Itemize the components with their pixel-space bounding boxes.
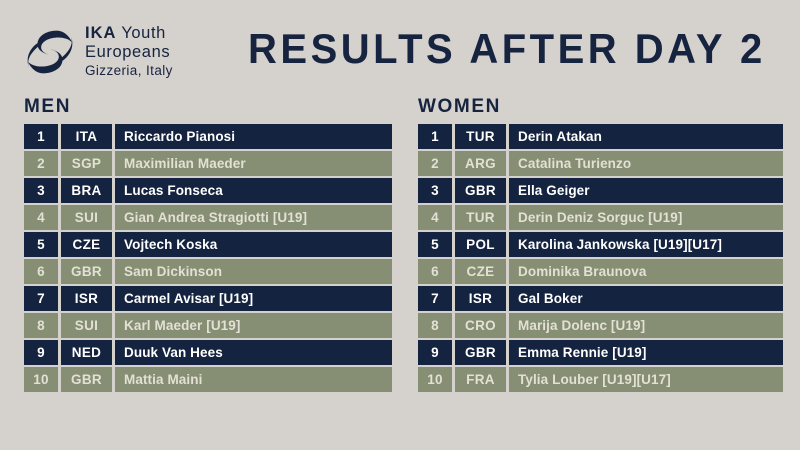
ika-s-logo-icon bbox=[24, 26, 76, 78]
nation-cell: BRA bbox=[61, 178, 112, 203]
rank-cell: 1 bbox=[418, 124, 452, 149]
nation-cell: GBR bbox=[455, 340, 506, 365]
nation-cell: ISR bbox=[455, 286, 506, 311]
athlete-name-cell: Duuk Van Hees bbox=[115, 340, 392, 365]
athlete-name-cell: Lucas Fonseca bbox=[115, 178, 392, 203]
athlete-name-cell: Gal Boker bbox=[509, 286, 783, 311]
athlete-name-cell: Tylia Louber [U19][U17] bbox=[509, 367, 783, 392]
rank-cell: 3 bbox=[24, 178, 58, 203]
rank-cell: 7 bbox=[418, 286, 452, 311]
athlete-name-cell: Emma Rennie [U19] bbox=[509, 340, 783, 365]
column-women: WOMEN 1TURDerin Atakan2ARGCatalina Turie… bbox=[418, 96, 783, 392]
nation-cell: CZE bbox=[455, 259, 506, 284]
table-row[interactable]: 10FRATylia Louber [U19][U17] bbox=[418, 367, 783, 392]
table-row[interactable]: 2SGPMaximilian Maeder bbox=[24, 151, 392, 176]
results-table-women: 1TURDerin Atakan2ARGCatalina Turienzo3GB… bbox=[418, 124, 783, 392]
table-row[interactable]: 4SUIGian Andrea Stragiotti [U19] bbox=[24, 205, 392, 230]
nation-cell: ITA bbox=[61, 124, 112, 149]
results-table-men: 1ITARiccardo Pianosi2SGPMaximilian Maede… bbox=[24, 124, 392, 392]
athlete-name-cell: Dominika Braunova bbox=[509, 259, 783, 284]
nation-cell: SGP bbox=[61, 151, 112, 176]
rank-cell: 9 bbox=[24, 340, 58, 365]
table-row[interactable]: 9GBREmma Rennie [U19] bbox=[418, 340, 783, 365]
athlete-name-cell: Maximilian Maeder bbox=[115, 151, 392, 176]
nation-cell: POL bbox=[455, 232, 506, 257]
athlete-name-cell: Derin Atakan bbox=[509, 124, 783, 149]
rank-cell: 5 bbox=[24, 232, 58, 257]
table-row[interactable]: 7ISRCarmel Avisar [U19] bbox=[24, 286, 392, 311]
table-row[interactable]: 6GBRSam Dickinson bbox=[24, 259, 392, 284]
athlete-name-cell: Marija Dolenc [U19] bbox=[509, 313, 783, 338]
results-graphic: IKA Youth Europeans Gizzeria, Italy RESU… bbox=[0, 0, 800, 450]
rank-cell: 2 bbox=[24, 151, 58, 176]
athlete-name-cell: Riccardo Pianosi bbox=[115, 124, 392, 149]
section-title-women: WOMEN bbox=[418, 96, 783, 124]
table-row[interactable]: 1ITARiccardo Pianosi bbox=[24, 124, 392, 149]
nation-cell: TUR bbox=[455, 124, 506, 149]
rank-cell: 2 bbox=[418, 151, 452, 176]
nation-cell: GBR bbox=[61, 259, 112, 284]
athlete-name-cell: Mattia Maini bbox=[115, 367, 392, 392]
rank-cell: 3 bbox=[418, 178, 452, 203]
athlete-name-cell: Ella Geiger bbox=[509, 178, 783, 203]
logo-line-3: Gizzeria, Italy bbox=[85, 62, 173, 80]
table-row[interactable]: 2ARGCatalina Turienzo bbox=[418, 151, 783, 176]
logo-line-2: Europeans bbox=[85, 43, 173, 62]
rank-cell: 5 bbox=[418, 232, 452, 257]
nation-cell: NED bbox=[61, 340, 112, 365]
athlete-name-cell: Karolina Jankowska [U19][U17] bbox=[509, 232, 783, 257]
table-row[interactable]: 7ISRGal Boker bbox=[418, 286, 783, 311]
nation-cell: ISR bbox=[61, 286, 112, 311]
rank-cell: 10 bbox=[418, 367, 452, 392]
rank-cell: 4 bbox=[418, 205, 452, 230]
logo-wordmark: IKA Youth Europeans Gizzeria, Italy bbox=[85, 24, 173, 79]
athlete-name-cell: Carmel Avisar [U19] bbox=[115, 286, 392, 311]
rank-cell: 10 bbox=[24, 367, 58, 392]
header: IKA Youth Europeans Gizzeria, Italy RESU… bbox=[0, 0, 800, 96]
athlete-name-cell: Vojtech Koska bbox=[115, 232, 392, 257]
table-row[interactable]: 5CZEVojtech Koska bbox=[24, 232, 392, 257]
rank-cell: 8 bbox=[418, 313, 452, 338]
rank-cell: 6 bbox=[418, 259, 452, 284]
nation-cell: TUR bbox=[455, 205, 506, 230]
event-logo: IKA Youth Europeans Gizzeria, Italy bbox=[24, 24, 173, 79]
rank-cell: 9 bbox=[418, 340, 452, 365]
table-row[interactable]: 10GBRMattia Maini bbox=[24, 367, 392, 392]
page-title: RESULTS AFTER DAY 2 bbox=[248, 26, 766, 73]
table-row[interactable]: 1TURDerin Atakan bbox=[418, 124, 783, 149]
nation-cell: SUI bbox=[61, 313, 112, 338]
table-row[interactable]: 4TURDerin Deniz Sorguc [U19] bbox=[418, 205, 783, 230]
rank-cell: 4 bbox=[24, 205, 58, 230]
nation-cell: ARG bbox=[455, 151, 506, 176]
nation-cell: GBR bbox=[455, 178, 506, 203]
rank-cell: 1 bbox=[24, 124, 58, 149]
table-row[interactable]: 8CROMarija Dolenc [U19] bbox=[418, 313, 783, 338]
column-men: MEN 1ITARiccardo Pianosi2SGPMaximilian M… bbox=[24, 96, 392, 392]
rank-cell: 7 bbox=[24, 286, 58, 311]
table-row[interactable]: 3GBRElla Geiger bbox=[418, 178, 783, 203]
athlete-name-cell: Derin Deniz Sorguc [U19] bbox=[509, 205, 783, 230]
athlete-name-cell: Gian Andrea Stragiotti [U19] bbox=[115, 205, 392, 230]
nation-cell: FRA bbox=[455, 367, 506, 392]
table-row[interactable]: 5POLKarolina Jankowska [U19][U17] bbox=[418, 232, 783, 257]
logo-line-1: IKA Youth bbox=[85, 24, 173, 43]
nation-cell: CRO bbox=[455, 313, 506, 338]
table-row[interactable]: 8SUIKarl Maeder [U19] bbox=[24, 313, 392, 338]
table-row[interactable]: 9NEDDuuk Van Hees bbox=[24, 340, 392, 365]
section-title-men: MEN bbox=[24, 96, 392, 124]
athlete-name-cell: Catalina Turienzo bbox=[509, 151, 783, 176]
athlete-name-cell: Karl Maeder [U19] bbox=[115, 313, 392, 338]
nation-cell: GBR bbox=[61, 367, 112, 392]
rank-cell: 8 bbox=[24, 313, 58, 338]
table-row[interactable]: 3BRALucas Fonseca bbox=[24, 178, 392, 203]
athlete-name-cell: Sam Dickinson bbox=[115, 259, 392, 284]
nation-cell: SUI bbox=[61, 205, 112, 230]
nation-cell: CZE bbox=[61, 232, 112, 257]
rank-cell: 6 bbox=[24, 259, 58, 284]
table-row[interactable]: 6CZEDominika Braunova bbox=[418, 259, 783, 284]
